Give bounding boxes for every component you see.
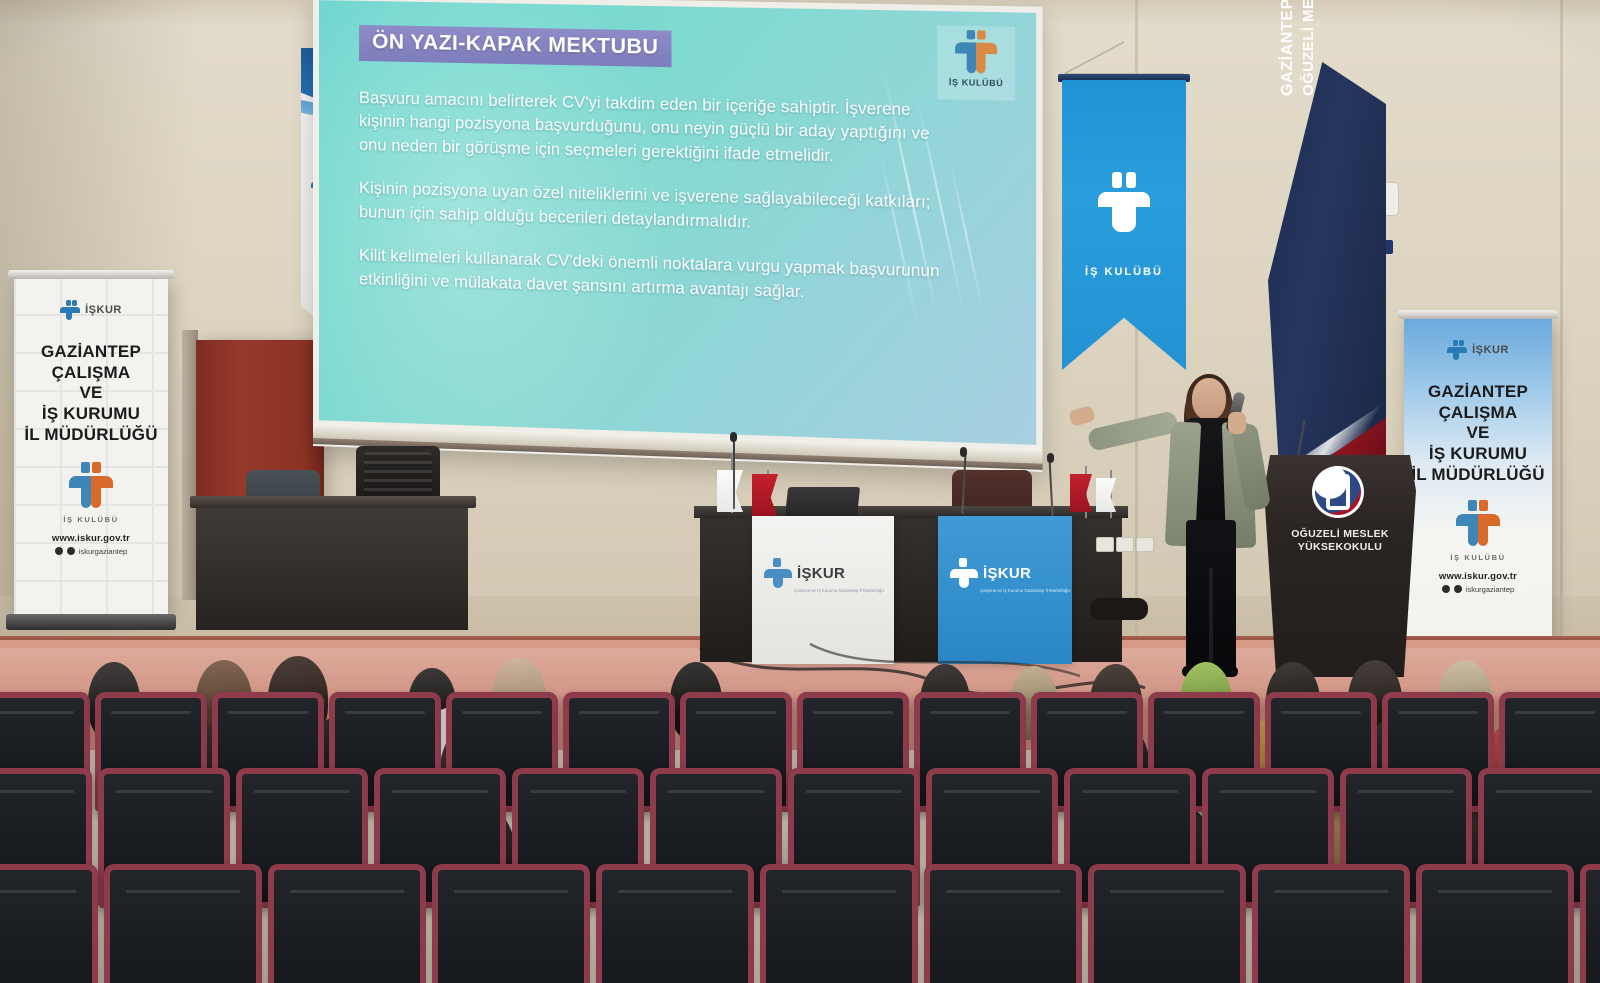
iskur-bird-icon	[950, 558, 978, 588]
rollup-banner-right: İŞKUR GAZİANTEP ÇALIŞMA VE İŞ KURUMU İL …	[1404, 318, 1552, 638]
iskur-bird-icon	[764, 558, 792, 588]
rollup-left-logo-text: İŞKUR	[85, 304, 122, 316]
rollup-left-social-handle: iskurgaziantep	[79, 547, 127, 556]
slide-title: ÖN YAZI-KAPAK MEKTUBU	[359, 25, 672, 67]
table-skirt-white-logo-text: İŞKUR	[797, 565, 845, 582]
rollup-left-base	[6, 614, 176, 630]
university-emblem-icon	[1312, 466, 1364, 518]
banner-hanging-string	[1058, 40, 1190, 76]
rollup-right-social: iskurgaziantep	[1442, 585, 1514, 594]
table-skirt-blue-logo-text: İŞKUR	[983, 565, 1031, 582]
wall-seam	[1560, 0, 1563, 640]
audience-seat	[432, 864, 590, 983]
presenter-head	[1192, 378, 1226, 420]
conference-hall-photo: İŞKUR Çalışma ve İş Kurumu Gaziantep İl …	[0, 0, 1600, 983]
rollup-right-club-label: İŞ KULÜBÜ	[1450, 553, 1505, 562]
rollup-right-url: www.iskur.gov.tr	[1439, 571, 1517, 582]
audience-seat	[596, 864, 754, 983]
rollup-right-logo-text: İŞKUR	[1472, 344, 1509, 356]
feather-flag-line2: OĞUZELİ MESLEK YÜKSEKOKULU	[1300, 0, 1340, 96]
audience-seat	[924, 864, 1082, 983]
audience-seat	[1580, 864, 1600, 983]
rollup-right-social-handle: iskurgaziantep	[1466, 585, 1514, 594]
audience-seat	[1416, 864, 1574, 983]
rollup-left-url: www.iskur.gov.tr	[52, 533, 130, 544]
audience-seating	[0, 636, 1600, 983]
microphone-head-icon	[1047, 453, 1054, 463]
rollup-left-logo: İŞKUR	[60, 300, 122, 320]
is-kulubu-icon	[69, 462, 113, 508]
wall-socket	[1096, 537, 1114, 552]
rollup-right-headline: GAZİANTEP ÇALIŞMA VE İŞ KURUMU İL MÜDÜRL…	[1411, 382, 1544, 486]
wall-socket	[1116, 537, 1134, 552]
rollup-left-headline: GAZİANTEP ÇALIŞMA VE İŞ KURUMU İL MÜDÜRL…	[24, 342, 157, 446]
microphone-head-icon	[960, 447, 967, 457]
projection-screen: ÖN YAZI-KAPAK MEKTUBU Başvuru amacını be…	[313, 0, 1043, 472]
side-desk-top	[190, 496, 476, 508]
social-icon	[1442, 585, 1450, 593]
audience-seat	[104, 864, 262, 983]
table-skirt-white-subtext: Çalışma ve İş Kurumu Gaziantep İl Müdürl…	[794, 588, 884, 594]
slide-light-streaks	[711, 44, 1036, 445]
side-desk	[196, 502, 468, 630]
rollup-left-club-label: İŞ KULÜBÜ	[63, 515, 118, 524]
iskur-bird-icon	[1447, 340, 1467, 360]
microphone-head-icon	[730, 432, 737, 442]
rollup-left-social: iskurgaziantep	[55, 547, 127, 556]
presenter-right-hand	[1228, 412, 1246, 434]
audience-seat	[1252, 864, 1410, 983]
slide-title-text: ÖN YAZI-KAPAK MEKTUBU	[372, 30, 658, 59]
is-kulubu-icon	[1456, 500, 1500, 546]
rollup-banner-left: İŞKUR GAZİANTEP ÇALIŞMA VE İŞ KURUMU İL …	[14, 278, 168, 614]
audience-seat	[1088, 864, 1246, 983]
is-kulubu-banner-icon	[1098, 172, 1150, 232]
podium-label: OĞUZELİ MESLEK YÜKSEKOKULU	[1264, 528, 1416, 554]
rollup-right-logo: İŞKUR	[1447, 340, 1509, 360]
table-skirt-white-logo: İŞKUR	[764, 558, 845, 588]
table-skirt-blue-logo: İŞKUR	[950, 558, 1031, 588]
audience-seat	[268, 864, 426, 983]
floor-equipment-case	[1090, 598, 1148, 620]
social-icon	[67, 547, 75, 555]
iskur-bird-icon	[60, 300, 80, 320]
table-microphone-stand	[733, 437, 735, 509]
audience-seat	[760, 864, 918, 983]
social-icon	[55, 547, 63, 555]
audience-seat	[0, 864, 98, 983]
hanging-banner-label: İŞ KULÜBÜ	[1062, 266, 1186, 278]
presentation-slide: ÖN YAZI-KAPAK MEKTUBU Başvuru amacını be…	[319, 0, 1036, 445]
table-skirt-blue-subtext: Çalışma ve İş Kurumu Gaziantep İl Müdürl…	[980, 588, 1070, 594]
social-icon	[1454, 585, 1462, 593]
